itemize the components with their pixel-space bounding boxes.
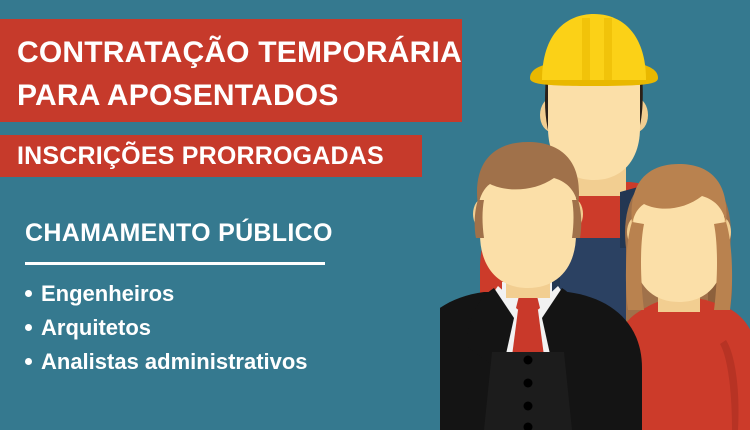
section-divider: [25, 262, 325, 265]
list-item: Engenheiros: [25, 279, 455, 309]
subheadline-line-1: INSCRIÇÕES PRORROGADAS: [17, 140, 422, 173]
roles-list: Engenheiros Arquitetos Analistas adminis…: [25, 279, 455, 377]
people-illustration: [440, 0, 750, 430]
list-item: Arquitetos: [25, 313, 455, 343]
section-heading: CHAMAMENTO PÚBLICO: [25, 218, 455, 248]
headline-line-2: PARA APOSENTADOS: [17, 74, 462, 117]
headline-banner: CONTRATAÇÃO TEMPORÁRIA PARA APOSENTADOS: [0, 19, 462, 122]
list-item-label: Engenheiros: [41, 281, 174, 306]
bullet-dot-icon: [25, 358, 32, 365]
call-section: CHAMAMENTO PÚBLICO Engenheiros Arquiteto…: [25, 218, 455, 381]
bullet-dot-icon: [25, 290, 32, 297]
bullet-dot-icon: [25, 324, 32, 331]
subheadline-banner: INSCRIÇÕES PRORROGADAS: [0, 135, 422, 177]
list-item: Analistas administrativos: [25, 347, 455, 377]
list-item-label: Analistas administrativos: [41, 349, 308, 374]
poster-canvas: CONTRATAÇÃO TEMPORÁRIA PARA APOSENTADOS …: [0, 0, 750, 430]
headline-line-1: CONTRATAÇÃO TEMPORÁRIA: [17, 31, 462, 74]
list-item-label: Arquitetos: [41, 315, 151, 340]
